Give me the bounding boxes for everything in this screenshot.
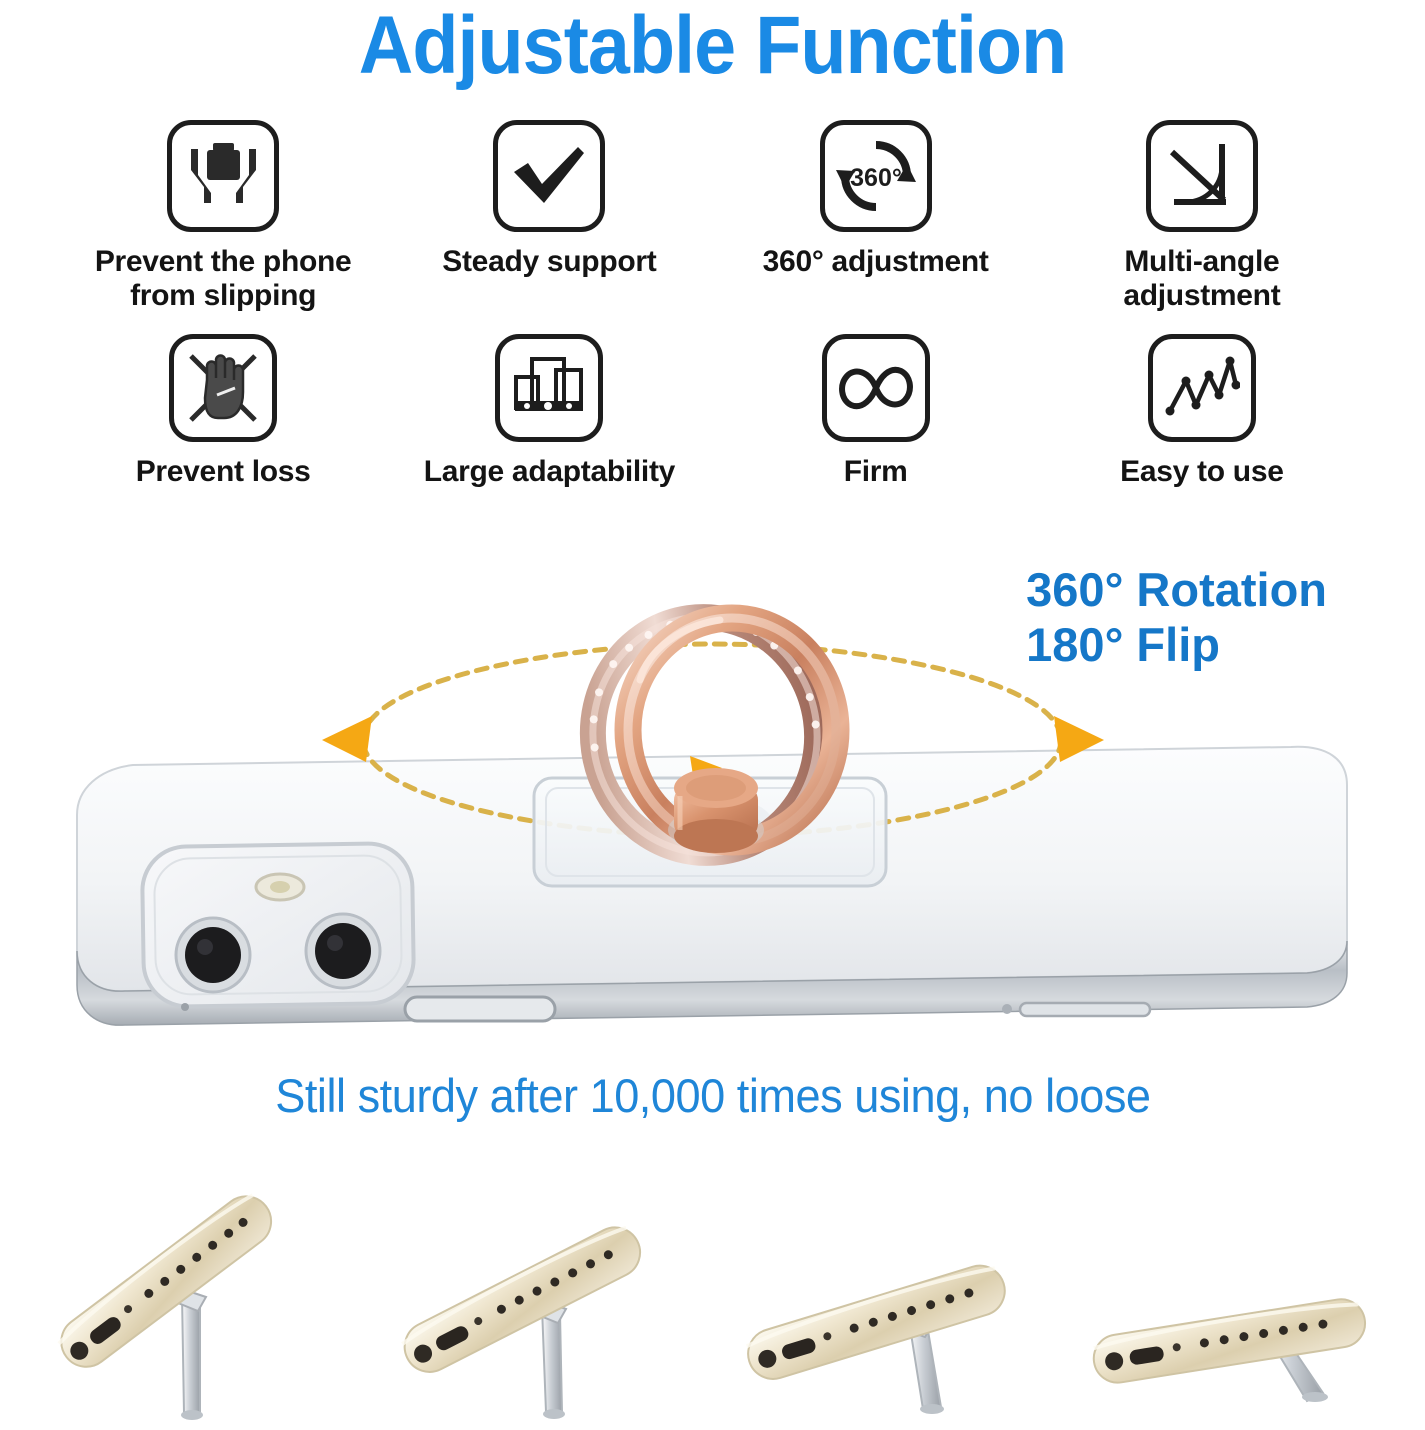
angle-adjust-icon (1146, 120, 1258, 232)
durability-caption-text: Still sturdy after 10,000 times using, n… (275, 1068, 1150, 1123)
multi-device-icon (495, 334, 603, 442)
feature-label: Easy to use (1120, 455, 1283, 489)
durability-caption: Still sturdy after 10,000 times using, n… (0, 1068, 1425, 1123)
feature-label: Prevent loss (136, 455, 311, 489)
phone-stand-angle-4 (1069, 1135, 1425, 1430)
stand-angle-thumbnails (0, 1135, 1425, 1425)
phone-stand-angle-2 (356, 1135, 712, 1430)
feature-item-large-adaptability: Large adaptability (386, 334, 712, 489)
feature-item-steady-support: Steady support (386, 120, 712, 312)
checkmark-icon (493, 120, 605, 232)
page-title: Adjustable Function (359, 5, 1067, 87)
feature-label: 360° adjustment (763, 245, 989, 279)
pivot-hub (668, 768, 764, 853)
phone-stand-angle-1 (0, 1135, 356, 1430)
feature-grid: Prevent the phone from slipping Steady s… (0, 92, 1425, 489)
feature-label: Steady support (442, 245, 656, 279)
feature-item-prevent-loss: Prevent loss (60, 334, 386, 489)
phone-stand-angle-3 (713, 1135, 1069, 1430)
feature-item-multi-angle: Multi-angle adjustment (1039, 120, 1365, 312)
page-title-bar: Adjustable Function (0, 0, 1425, 92)
feature-item-prevent-slipping: Prevent the phone from slipping (60, 120, 386, 312)
feature-item-360-adjustment: 360° 360° adjustment (713, 120, 1039, 312)
ring-holder-assembly (520, 600, 920, 930)
feature-label: Firm (844, 455, 908, 489)
360-rotation-icon: 360° (820, 120, 932, 232)
feature-label: Multi-angle adjustment (1123, 245, 1280, 312)
feature-label: Large adaptability (424, 455, 675, 489)
feature-label: Prevent the phone from slipping (95, 245, 352, 312)
hero-product-illustration (0, 590, 1425, 1060)
svg-text:360°: 360° (850, 164, 902, 192)
hands-holding-phone-icon (167, 120, 279, 232)
zigzag-chart-icon (1148, 334, 1256, 442)
hand-crossed-out-icon (169, 334, 277, 442)
feature-item-easy-to-use: Easy to use (1039, 334, 1365, 489)
infinity-icon (822, 334, 930, 442)
feature-item-firm: Firm (713, 334, 1039, 489)
